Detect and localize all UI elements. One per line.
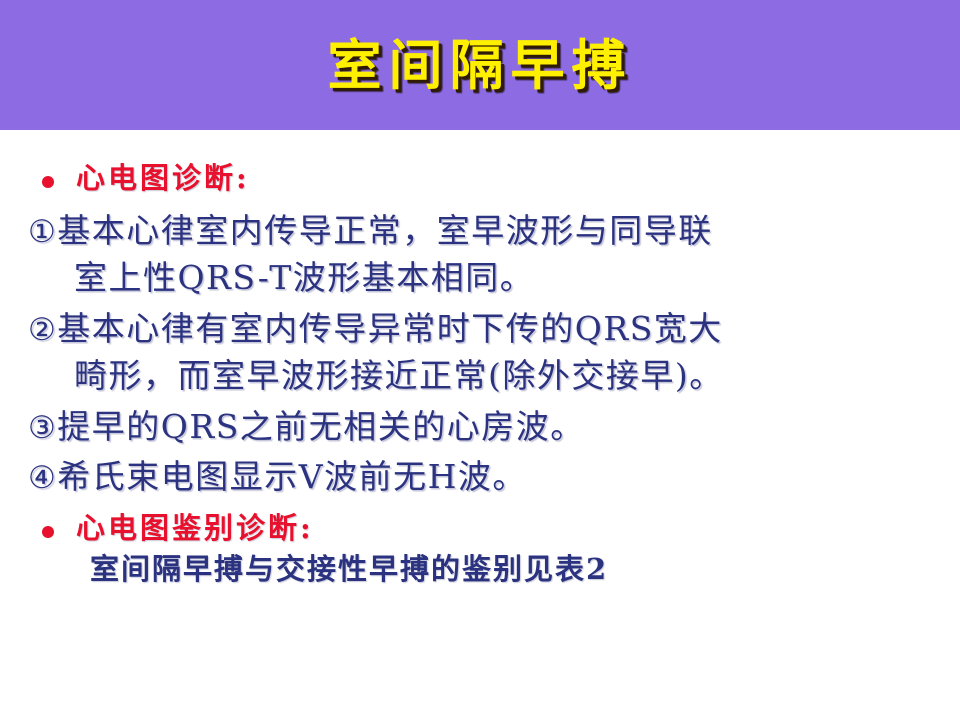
bullet-row-diagnosis: 心电图诊断: (28, 158, 958, 199)
numbered-line-4a: ④希氏束电图显示V波前无H波。 (28, 454, 958, 501)
item-2-line-2: 畸形，而室早波形接近正常(除外交接早)。 (74, 353, 958, 398)
section-ecg-differential: 心电图鉴别诊断: 室间隔早搏与交接性早搏的鉴别见表2 (28, 508, 958, 590)
item-2-line-1: 基本心律有室内传导异常时下传的QRS宽大 (57, 309, 723, 348)
section-ecg-diagnosis: 心电图诊断: (28, 158, 958, 199)
list-item: ①基本心律室内传导正常，室早波形与同导联 室上性QRS-T波形基本相同。 (28, 208, 958, 300)
circled-number-icon: ② (28, 312, 57, 348)
numbered-line-2a: ②基本心律有室内传导异常时下传的QRS宽大 (28, 306, 958, 353)
list-item: ④希氏束电图显示V波前无H波。 (28, 454, 958, 501)
bullet-dot-icon (42, 526, 54, 538)
item-3-line-1: 提早的QRS之前无相关的心房波。 (57, 407, 585, 446)
section-heading-diagnosis: 心电图诊断: (76, 158, 250, 199)
item-1-line-2: 室上性QRS-T波形基本相同。 (74, 255, 958, 300)
section-heading-differential: 心电图鉴别诊断: (76, 508, 314, 549)
item-4-line-1: 希氏束电图显示V波前无H波。 (57, 457, 527, 496)
circled-number-icon: ③ (28, 410, 57, 446)
numbered-line-1a: ①基本心律室内传导正常，室早波形与同导联 (28, 208, 958, 255)
bullet-dot-icon (42, 176, 54, 188)
slide-root: 室间隔早搏 心电图诊断: ①基本心律室内传导正常，室早波形与同导联 室上性QRS… (0, 0, 960, 720)
circled-number-icon: ① (28, 214, 57, 250)
numbered-line-3a: ③提早的QRS之前无相关的心房波。 (28, 404, 958, 451)
page-title: 室间隔早搏 (0, 34, 960, 96)
circled-number-icon: ④ (28, 460, 57, 496)
list-item: ②基本心律有室内传导异常时下传的QRS宽大 畸形，而室早波形接近正常(除外交接早… (28, 306, 958, 398)
differential-detail-line: 室间隔早搏与交接性早搏的鉴别见表2 (90, 549, 958, 590)
list-item: ③提早的QRS之前无相关的心房波。 (28, 404, 958, 451)
slide-body: 心电图诊断: ①基本心律室内传导正常，室早波形与同导联 室上性QRS-T波形基本… (0, 130, 960, 720)
item-1-line-1: 基本心律室内传导正常，室早波形与同导联 (57, 211, 713, 250)
bullet-row-differential: 心电图鉴别诊断: (28, 508, 958, 549)
